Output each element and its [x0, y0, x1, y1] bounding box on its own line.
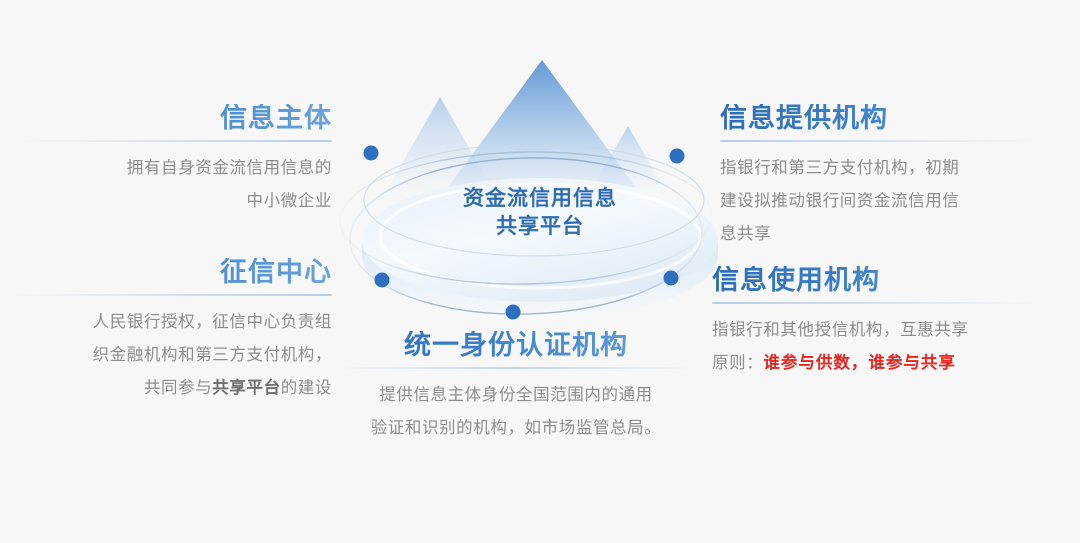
block-body: 指银行和第三方支付机构，初期建设拟推动银行间资金流信用信息共享: [720, 151, 1040, 250]
center-graphic: 资金流信用信息 共享平台: [330, 30, 750, 340]
body-run: 共享平台: [212, 378, 280, 397]
body-line: 中小微企业: [20, 184, 332, 217]
body-line: 指银行和其他授信机构，互惠共享: [712, 313, 1042, 346]
body-run: 验证和识别的机构，如市场监管总局。: [371, 418, 662, 437]
body-line: 提供信息主体身份全国范围内的通用: [336, 378, 696, 411]
heading-rule: [336, 367, 696, 369]
block-heading: 征信中心: [8, 258, 332, 288]
orbit-dot-lower-left[interactable]: [375, 273, 390, 288]
body-run: 提供信息主体身份全国范围内的通用: [379, 385, 653, 404]
body-line: 人民银行授权，征信中心负责组: [8, 305, 332, 338]
block-heading: 信息提供机构: [720, 104, 1040, 134]
heading-rule: [712, 302, 1042, 304]
block-heading: 统一身份认证机构: [336, 331, 696, 361]
block-body: 指银行和其他授信机构，互惠共享原则：谁参与供数，谁参与共享: [712, 313, 1042, 379]
body-line: 指银行和第三方支付机构，初期: [720, 151, 1040, 184]
body-run: 共同参与: [144, 378, 212, 397]
block-information-subject: 信息主体 拥有自身资金流信用信息的中小微企业: [20, 104, 332, 217]
block-body: 拥有自身资金流信用信息的中小微企业: [20, 151, 332, 217]
block-heading: 信息使用机构: [712, 266, 1042, 296]
body-run: 息共享: [720, 224, 771, 243]
orbit-and-platform: [330, 30, 750, 340]
body-line: 原则：谁参与供数，谁参与共享: [712, 346, 1042, 379]
heading-rule: [20, 140, 332, 142]
body-run: 指银行和其他授信机构，互惠共享: [712, 320, 969, 339]
body-run: 拥有自身资金流信用信息的: [127, 158, 332, 177]
block-body: 提供信息主体身份全国范围内的通用验证和识别的机构，如市场监管总局。: [336, 378, 696, 444]
body-run: 谁参与供数，谁参与共享: [763, 353, 956, 372]
block-identity-authentication: 统一身份认证机构 提供信息主体身份全国范围内的通用验证和识别的机构，如市场监管总…: [336, 331, 696, 444]
body-run: 人民银行授权，征信中心负责组: [93, 312, 332, 331]
body-run: 原则：: [712, 353, 763, 372]
infographic-canvas: 资金流信用信息 共享平台 信息主体 拥有自身资金流信用信息的中小微企业 征信中心…: [0, 0, 1080, 543]
block-information-user: 信息使用机构 指银行和其他授信机构，互惠共享原则：谁参与供数，谁参与共享: [712, 266, 1042, 379]
orbit-dot-upper-right[interactable]: [670, 149, 685, 164]
orbit-dot-upper-left[interactable]: [364, 146, 379, 161]
block-information-provider: 信息提供机构 指银行和第三方支付机构，初期建设拟推动银行间资金流信用信息共享: [720, 104, 1040, 250]
body-run: 织金融机构和第三方支付机构，: [93, 345, 332, 364]
block-heading: 信息主体: [20, 104, 332, 134]
heading-rule: [8, 294, 332, 296]
body-run: 中小微企业: [247, 191, 333, 210]
body-line: 验证和识别的机构，如市场监管总局。: [336, 411, 696, 444]
orbit-dot-lower-right[interactable]: [664, 271, 679, 286]
body-line: 息共享: [720, 217, 1040, 250]
block-credit-center: 征信中心 人民银行授权，征信中心负责组织金融机构和第三方支付机构，共同参与共享平…: [8, 258, 332, 404]
body-line: 拥有自身资金流信用信息的: [20, 151, 332, 184]
body-run: 的建设: [281, 378, 332, 397]
body-run: 指银行和第三方支付机构，初期: [720, 158, 959, 177]
orbit-dot-bottom-center[interactable]: [506, 305, 521, 320]
body-run: 建设拟推动银行间资金流信用信: [720, 191, 959, 210]
body-line: 共同参与共享平台的建设: [8, 371, 332, 404]
body-line: 织金融机构和第三方支付机构，: [8, 338, 332, 371]
heading-rule: [720, 140, 1040, 142]
body-line: 建设拟推动银行间资金流信用信: [720, 184, 1040, 217]
block-body: 人民银行授权，征信中心负责组织金融机构和第三方支付机构，共同参与共享平台的建设: [8, 305, 332, 404]
